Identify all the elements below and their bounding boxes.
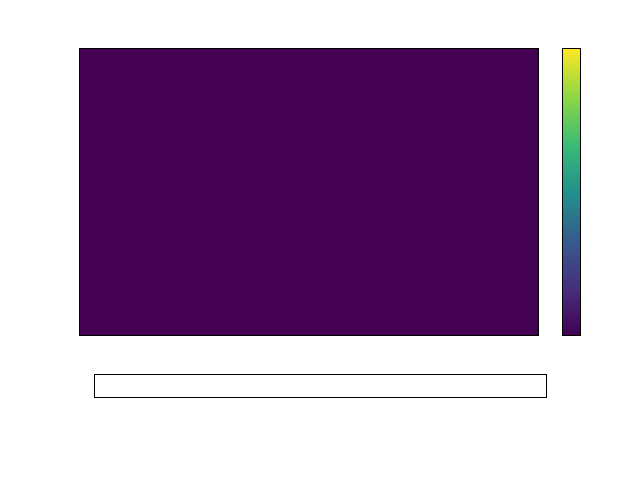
timeline-coverage-bar[interactable] <box>94 374 547 398</box>
x-tick-labels <box>79 336 537 360</box>
y-tick-marks <box>0 48 79 334</box>
colorbar-tick-labels <box>562 48 640 334</box>
ppsd-figure <box>0 0 640 480</box>
ppsd-plot-area[interactable] <box>79 48 539 336</box>
timeline-tick-labels <box>0 402 640 480</box>
noise-model-curves <box>80 49 538 335</box>
